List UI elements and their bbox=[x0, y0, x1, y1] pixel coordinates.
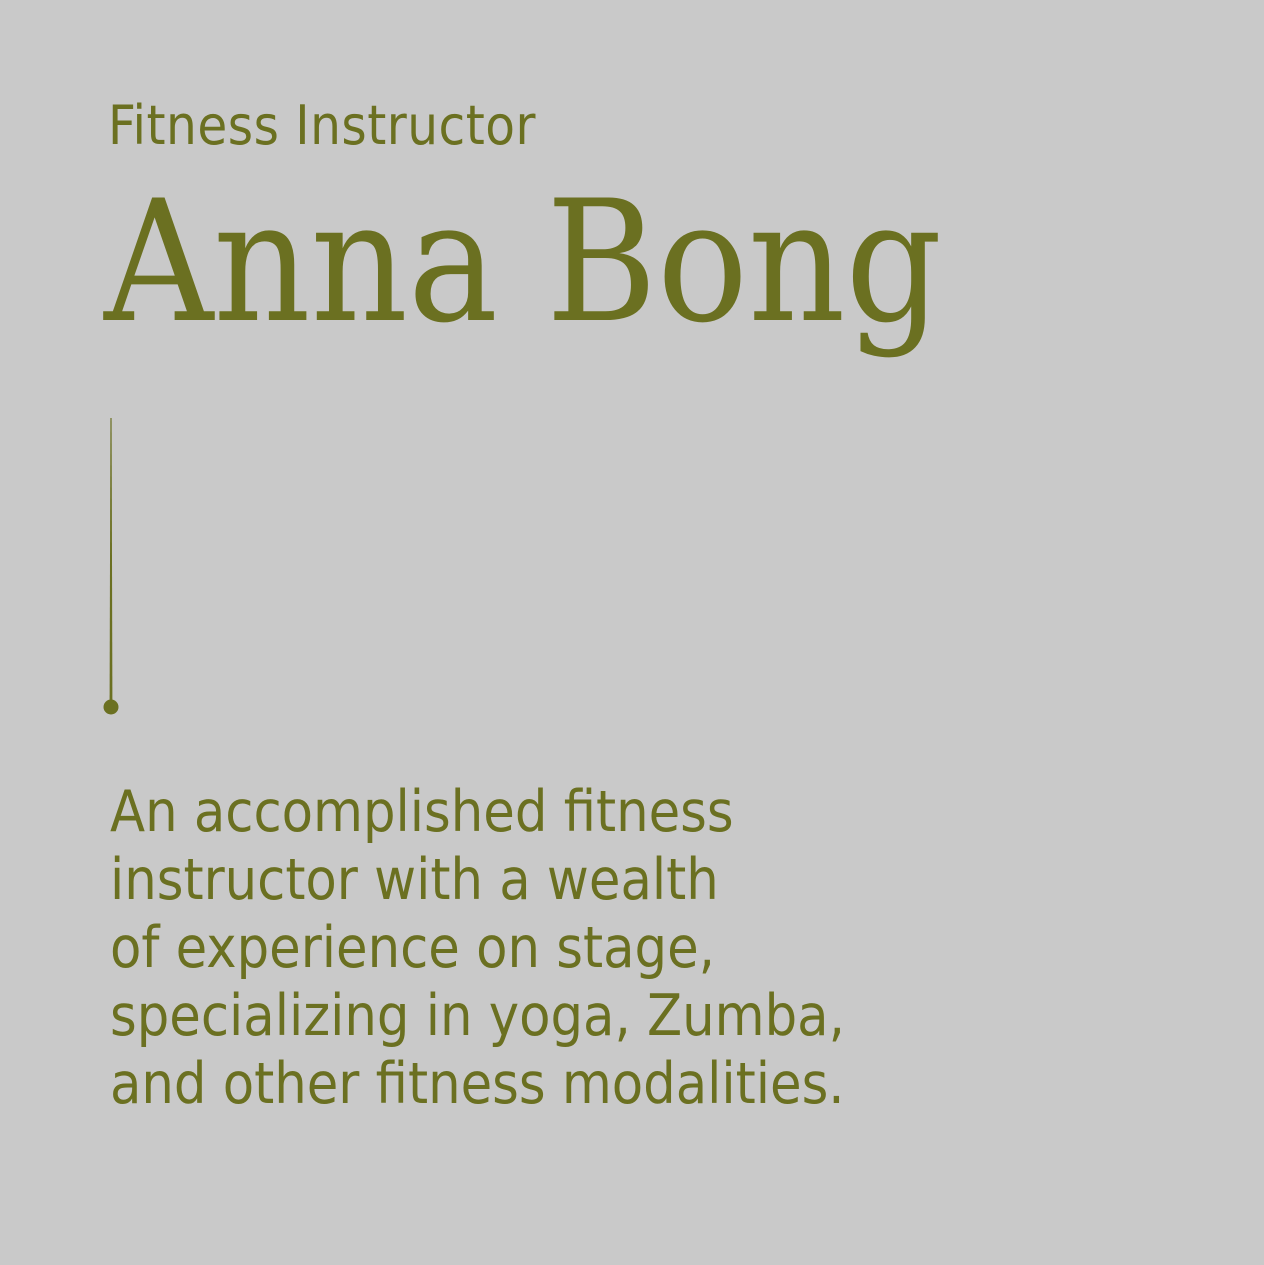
pin-divider bbox=[102, 418, 120, 718]
bio-line: and other fitness modalities. bbox=[110, 1050, 1090, 1118]
bio-line: An accomplished fitness bbox=[110, 778, 1090, 846]
role-label: Fitness Instructor bbox=[108, 98, 536, 155]
page-title: Anna Bong bbox=[104, 178, 942, 346]
bio-line: specializing in yoga, Zumba, bbox=[110, 982, 1090, 1050]
bio-line: instructor with a wealth bbox=[110, 846, 1090, 914]
bio-paragraph: An accomplished fitness instructor with … bbox=[110, 778, 1090, 1118]
profile-card: Fitness Instructor Anna Bong An accompli… bbox=[0, 0, 1264, 1265]
pin-line-with-dot-icon bbox=[102, 418, 120, 718]
bio-line: of experience on stage, bbox=[110, 914, 1090, 982]
